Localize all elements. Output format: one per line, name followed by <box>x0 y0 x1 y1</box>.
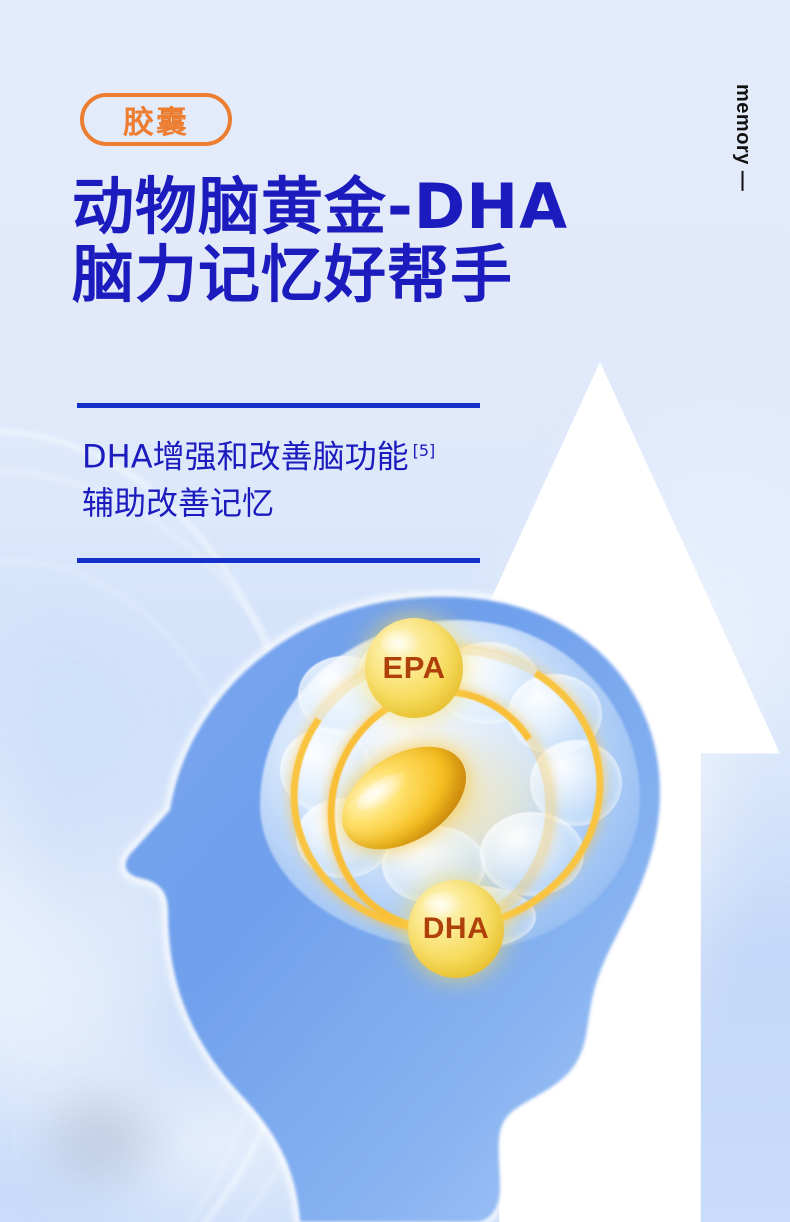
subtitle-line-2: 辅助改善记忆 <box>82 484 274 522</box>
capsule-type-badge: 胶囊 <box>80 93 232 146</box>
memory-side-label: memory — <box>731 84 754 191</box>
divider-bottom <box>77 558 480 563</box>
subtitle-reference-marker: [5] <box>413 441 436 460</box>
title-line-1-prefix: 动物脑黄金- <box>72 170 414 243</box>
title-line-1: 动物脑黄金-DHA <box>72 173 712 241</box>
page-title: 动物脑黄金-DHA 脑力记忆好帮手 <box>72 173 712 309</box>
dha-bubble: DHA <box>408 880 504 978</box>
poster-canvas: EPA DHA 胶囊 动物脑黄金-DHA 脑力记忆好帮手 DHA增强和改善脑功能… <box>0 0 790 1222</box>
epa-bubble: EPA <box>365 618 463 718</box>
capsule-type-badge-label: 胶囊 <box>123 97 189 142</box>
dha-bubble-label: DHA <box>423 912 490 946</box>
divider-top <box>77 403 480 408</box>
epa-bubble-label: EPA <box>383 650 446 686</box>
brain-illustration: EPA DHA <box>240 600 660 1000</box>
subtitle-line-1: DHA增强和改善脑功能 <box>82 438 409 476</box>
title-line-2: 脑力记忆好帮手 <box>72 241 712 309</box>
title-line-1-highlight: DHA <box>414 173 568 241</box>
subtitle-block: DHA增强和改善脑功能[5] 辅助改善记忆 <box>82 428 552 526</box>
